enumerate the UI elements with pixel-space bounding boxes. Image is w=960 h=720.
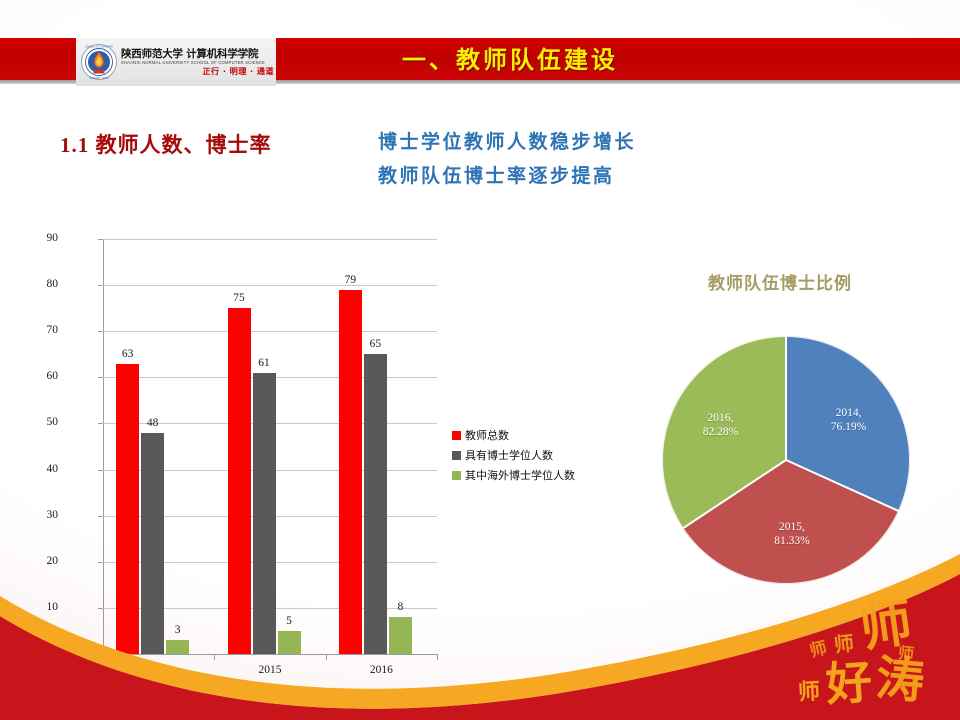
- logo-text-block: 陕西师范大学 计算机科学学院 SHAANXI NORMAL UNIVERSITY…: [118, 48, 276, 77]
- bar-value-label: 63: [108, 348, 147, 361]
- pie-label-line: 76.19%: [804, 420, 894, 434]
- y-axis-tick-label: 70: [30, 325, 58, 336]
- gridline: [103, 239, 437, 240]
- university-logo: SCHOOL OF COMPUTER SCIENCE · SNNU 陕西师范大学…: [76, 38, 276, 86]
- pie-slice-label-2014: 2014,76.19%: [804, 406, 894, 434]
- legend-item[interactable]: 具有博士学位人数: [452, 445, 612, 465]
- y-axis-tick: [98, 516, 103, 517]
- calligraphy-char: 好: [824, 658, 873, 707]
- pie-label-line: 82.28%: [675, 425, 765, 439]
- y-axis-tick: [98, 377, 103, 378]
- calligraphy-char: 师: [797, 681, 820, 704]
- y-axis-tick: [98, 285, 103, 286]
- y-axis-tick-label: 90: [30, 233, 58, 244]
- y-axis-tick: [98, 423, 103, 424]
- legend-item[interactable]: 教师总数: [452, 425, 612, 445]
- y-axis-tick-label: 40: [30, 464, 58, 475]
- y-axis-tick-label: 60: [30, 371, 58, 382]
- bar-value-label: 79: [331, 274, 370, 287]
- legend-swatch-icon: [452, 431, 461, 440]
- pie-label-line: 2014,: [804, 406, 894, 420]
- bar-value-label: 48: [133, 417, 172, 430]
- pie-chart-title: 教师队伍博士比例: [620, 271, 940, 297]
- page-title: 一、教师队伍建设: [300, 43, 720, 77]
- y-axis-tick-label: 50: [30, 417, 58, 428]
- logo-university-name: 陕西师范大学 计算机科学学院: [121, 48, 274, 60]
- lead-text-line-2: 教师队伍博士率逐步提高: [378, 160, 708, 194]
- calligraphy-decoration: 师 师 师 师 好 涛 师: [798, 598, 948, 718]
- gridline: [103, 285, 437, 286]
- bar-value-label: 65: [356, 338, 395, 351]
- y-axis-tick: [98, 470, 103, 471]
- logo-motto: 正行 · 明理 · 通道: [121, 66, 274, 77]
- legend-swatch-icon: [452, 451, 461, 460]
- svg-text:SCIENCE · SNNU: SCIENCE · SNNU: [90, 78, 109, 80]
- legend-item-label: 具有博士学位人数: [465, 447, 553, 463]
- pie-slice-label-2016: 2016,82.28%: [675, 411, 765, 439]
- lead-text-line-1: 博士学位教师人数稳步增长: [378, 126, 708, 160]
- legend-item-label: 其中海外博士学位人数: [465, 467, 575, 483]
- slide-canvas: SCHOOL OF COMPUTER SCIENCE · SNNU 陕西师范大学…: [0, 0, 960, 720]
- y-axis-tick-label: 80: [30, 279, 58, 290]
- y-axis-tick: [98, 239, 103, 240]
- university-emblem-icon: SCHOOL OF COMPUTER SCIENCE · SNNU: [80, 43, 118, 81]
- bar-chart-legend: 教师总数具有博士学位人数其中海外博士学位人数: [452, 425, 612, 485]
- calligraphy-char: 师: [833, 633, 855, 655]
- y-axis-tick-label: 30: [30, 510, 58, 521]
- bar-value-label: 61: [245, 357, 284, 370]
- calligraphy-char: 涛: [874, 654, 926, 706]
- legend-item[interactable]: 其中海外博士学位人数: [452, 465, 612, 485]
- lead-text-block: 博士学位教师人数稳步增长 教师队伍博士率逐步提高: [378, 126, 708, 194]
- section-title: 1.1 教师人数、博士率: [60, 130, 330, 160]
- bar-value-label: 75: [220, 292, 259, 305]
- y-axis-tick: [98, 331, 103, 332]
- legend-swatch-icon: [452, 471, 461, 480]
- legend-item-label: 教师总数: [465, 427, 509, 443]
- gridline: [103, 331, 437, 332]
- footer-decoration: 师 师 师 师 好 涛 师: [0, 520, 960, 720]
- pie-label-line: 2016,: [675, 411, 765, 425]
- svg-text:SCHOOL OF COMPUTER: SCHOOL OF COMPUTER: [85, 46, 113, 48]
